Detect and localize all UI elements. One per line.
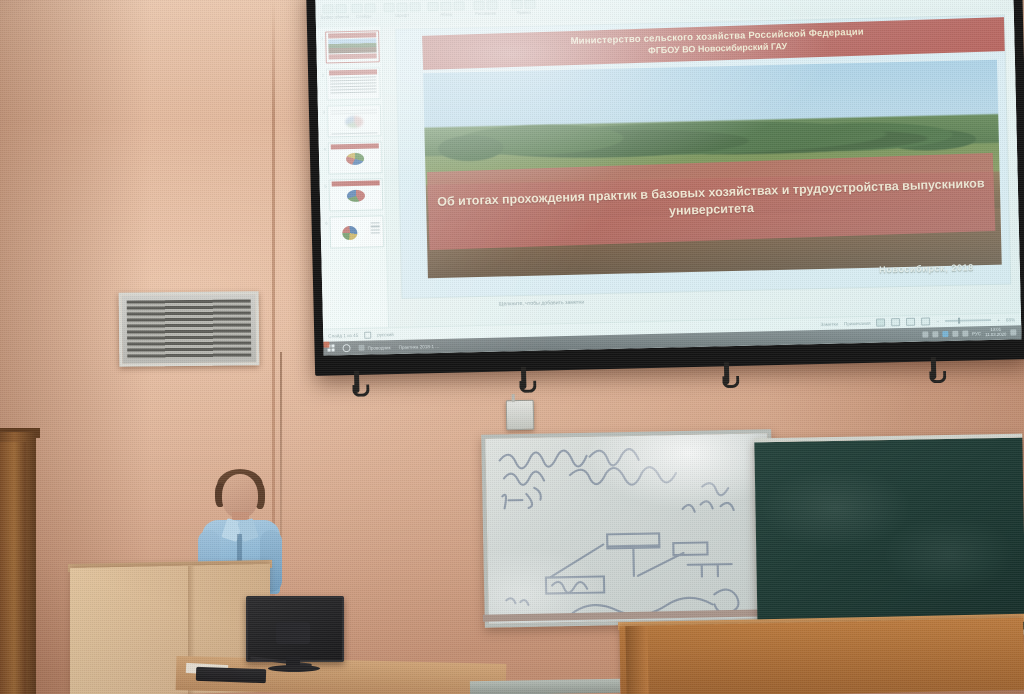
powerpoint-window: Файл Главная Вставка Дизайн Переходы Ани…: [315, 0, 1021, 356]
underline-icon[interactable]: [409, 2, 420, 11]
ventilation-grille: [119, 291, 260, 366]
thumbnail-number: 4: [321, 143, 326, 152]
slides-icons: [351, 3, 375, 13]
screen-hook: [354, 371, 360, 393]
screen-hook: [521, 367, 527, 389]
zoom-slider[interactable]: [945, 319, 991, 321]
taskbar-item-label: Практика 2018-1 ...: [399, 343, 440, 349]
ribbon-group-drawing[interactable]: Рисование: [473, 0, 497, 16]
shapes-icon[interactable]: [473, 1, 484, 10]
list-item[interactable]: 3: [320, 104, 382, 137]
taskbar-item-powerpoint[interactable]: Практика 2018-1 ...: [399, 343, 440, 349]
thumb-header-band: [331, 143, 379, 149]
screen-hook: [931, 357, 937, 379]
notes-placeholder[interactable]: Щелкните, чтобы добавить заметки: [498, 300, 584, 308]
slide-thumbnail-pane[interactable]: 1 2: [316, 26, 389, 329]
thumb-pie-chart: [342, 225, 357, 239]
search-icon[interactable]: [342, 344, 350, 352]
clock-date: 11.03.2020: [985, 333, 1006, 338]
system-tray: РУС 13:01 11.03.2020: [922, 327, 1022, 339]
desktop-monitor[interactable]: [246, 596, 340, 674]
slide-thumbnail-5[interactable]: [329, 178, 384, 211]
numbering-icon[interactable]: [440, 2, 451, 11]
door-panel[interactable]: [0, 442, 26, 694]
layout-icon[interactable]: [364, 3, 375, 12]
thumb-pie-chart: [347, 189, 365, 201]
slide-thumbnail-1[interactable]: [325, 30, 380, 63]
slide-thumbnail-6[interactable]: [329, 215, 384, 248]
bullets-icon[interactable]: [427, 2, 438, 11]
editing-icons: [511, 0, 535, 9]
font-icons: [383, 2, 420, 12]
zoom-slider-handle[interactable]: [958, 318, 960, 324]
monitor-housing-bulge: [276, 622, 310, 644]
thumbnail-number: 3: [320, 106, 325, 115]
thumbnail-number: 6: [322, 217, 327, 226]
volume-icon[interactable]: [962, 331, 968, 337]
align-icon[interactable]: [453, 1, 464, 10]
spellcheck-icon[interactable]: [364, 331, 371, 338]
notes-button[interactable]: Заметки: [820, 321, 838, 326]
drawing-icons: [473, 0, 497, 10]
monitor-back-panel: [246, 596, 344, 662]
slide-sorter-button[interactable]: [891, 318, 900, 326]
whiteboard: [481, 429, 775, 628]
replace-icon[interactable]: [524, 0, 535, 9]
list-item[interactable]: 2: [319, 67, 381, 100]
thumb-header-band: [329, 69, 377, 75]
vent-louvers: [127, 299, 252, 358]
thumb-legend: [371, 222, 380, 235]
status-left: Слайд 1 из 45 русский: [323, 331, 394, 340]
slide-thumbnail-2[interactable]: [326, 67, 381, 100]
show-hidden-icons-icon[interactable]: [922, 331, 928, 337]
front-bench: [470, 679, 620, 694]
ribbon-group-paragraph-label: Абзац: [440, 12, 452, 17]
student-desk: [619, 618, 1024, 694]
thumbnail-number: 1: [318, 32, 323, 41]
thumb-pie-chart: [346, 152, 364, 164]
zoom-out-button[interactable]: −: [936, 319, 939, 324]
list-item[interactable]: 4: [321, 141, 383, 174]
lecture-hall-photo: Файл Главная Вставка Дизайн Переходы Ани…: [0, 0, 1024, 694]
chalkboard: [754, 434, 1024, 640]
onedrive-icon[interactable]: [932, 331, 938, 337]
ribbon-group-font[interactable]: Шрифт: [383, 2, 420, 18]
whiteboard-glare: [485, 433, 770, 623]
thumb-chart: [345, 115, 363, 127]
slide-thumbnail-4[interactable]: [328, 141, 383, 174]
paste-icon[interactable]: [323, 4, 334, 13]
thumb-title-band: [329, 53, 377, 59]
ribbon-group-clipboard-label: Буфер обмена: [321, 14, 350, 20]
taskbar-item-label: Проводник: [367, 345, 390, 351]
ribbon-group-editing[interactable]: Правка: [511, 0, 535, 15]
projection-screen: Файл Главная Вставка Дизайн Переходы Ани…: [306, 0, 1024, 376]
clipboard-icons: [323, 4, 347, 14]
ribbon-group-slides-label: Слайды: [356, 13, 372, 18]
copy-icon[interactable]: [336, 4, 347, 13]
keyboard[interactable]: [196, 667, 266, 683]
find-icon[interactable]: [511, 0, 522, 9]
paragraph-icons: [427, 1, 464, 11]
taskbar-item-explorer[interactable]: Проводник: [358, 344, 390, 351]
ribbon-group-slides[interactable]: Слайды: [351, 3, 375, 19]
current-slide[interactable]: Министерство сельского хозяйства Российс…: [396, 16, 1010, 298]
projected-image: Файл Главная Вставка Дизайн Переходы Ани…: [315, 0, 1021, 356]
ribbon-group-font-label: Шрифт: [395, 13, 409, 18]
list-item[interactable]: 1: [318, 30, 380, 63]
slide-thumbnail-3[interactable]: [327, 104, 382, 137]
slide-counter[interactable]: Слайд 1 из 45: [328, 332, 358, 338]
thumb-header-band: [332, 180, 380, 186]
zoom-in-button[interactable]: +: [997, 317, 1000, 322]
wall-junction-box: [506, 400, 535, 430]
monitor-stand-base: [268, 665, 320, 672]
ribbon-group-drawing-label: Рисование: [475, 11, 496, 16]
zoom-level[interactable]: 68%: [1006, 317, 1015, 322]
thumbnail-number: 2: [319, 69, 324, 78]
ribbon-group-paragraph[interactable]: Абзац: [427, 1, 464, 17]
language-indicator[interactable]: РУС: [972, 331, 981, 336]
slide-city-year: Новосибирск, 2018: [879, 262, 974, 274]
list-item[interactable]: 6: [322, 215, 384, 248]
language-indicator[interactable]: русский: [377, 332, 394, 337]
notification-icon[interactable]: [1010, 329, 1016, 335]
italic-icon[interactable]: [396, 3, 407, 12]
thumb-text-lines: [330, 76, 376, 95]
display-icon[interactable]: [952, 331, 958, 337]
chalk-dust: [754, 438, 1024, 635]
ribbon-tab-file[interactable]: Файл: [321, 0, 333, 1]
ribbon-group-editing-label: Правка: [517, 10, 531, 15]
powerpoint-icon: [323, 342, 329, 348]
ribbon-group-clipboard[interactable]: Буфер обмена: [320, 4, 349, 20]
thumbnail-number: 5: [322, 180, 327, 189]
thumb-caption: [331, 132, 377, 134]
network-icon[interactable]: [942, 331, 948, 337]
taskbar-clock[interactable]: 13:01 11.03.2020: [985, 328, 1006, 338]
normal-view-button[interactable]: [876, 318, 885, 326]
list-item[interactable]: 5: [322, 178, 384, 211]
screen-hook: [724, 362, 730, 384]
arrange-icon[interactable]: [486, 0, 497, 9]
comments-button[interactable]: Примечания: [844, 320, 871, 326]
slideshow-button[interactable]: [921, 317, 930, 325]
reading-view-button[interactable]: [906, 318, 915, 326]
student-desk-post: [625, 626, 648, 694]
bold-icon[interactable]: [383, 3, 394, 12]
slide-editing-stage[interactable]: Министерство сельского хозяйства Российс…: [382, 11, 1021, 328]
new-slide-icon[interactable]: [351, 4, 362, 13]
folder-icon: [358, 345, 364, 351]
thumb-photo: [328, 38, 376, 53]
